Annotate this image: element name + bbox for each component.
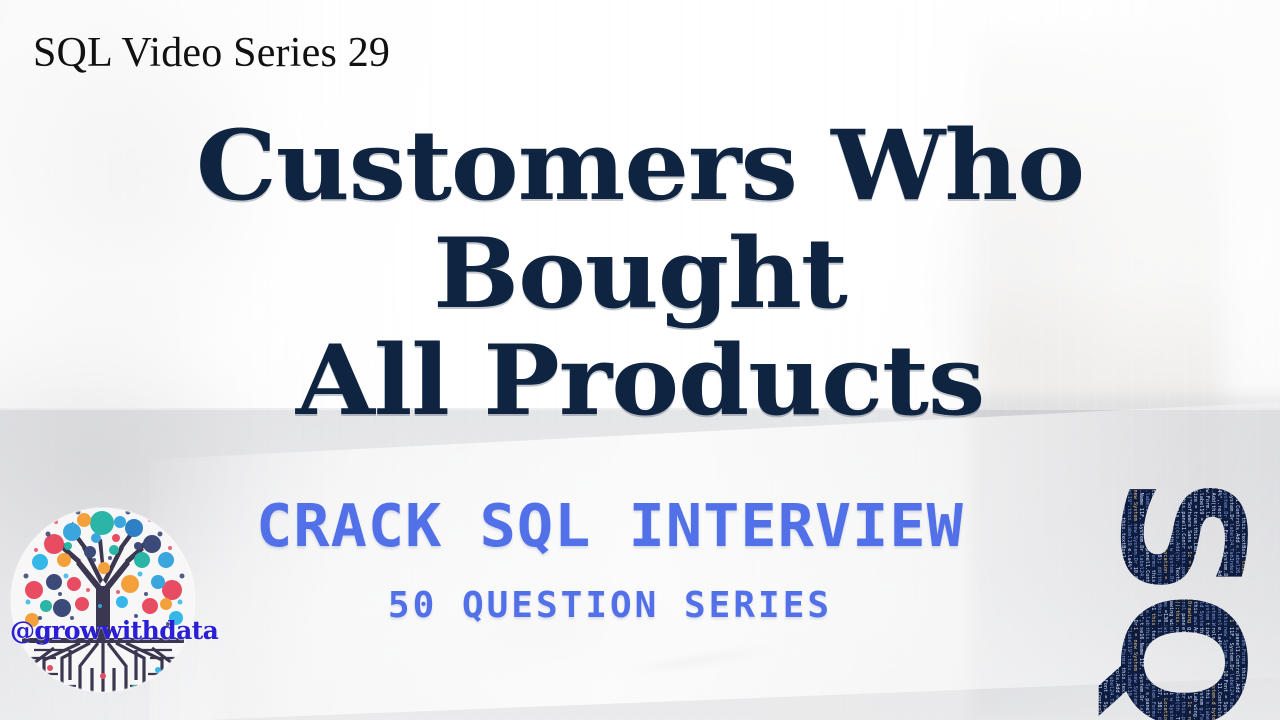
sql-wordmark-icon: System.Formsthis.textBox1this.labytabthi… (986, 470, 1280, 720)
page-title: Customers Who Bought All Products (0, 112, 1280, 435)
banner-sub-text: 50 QUESTION SERIES (205, 588, 1015, 624)
channel-logo[interactable]: @growwithdata (10, 498, 196, 703)
sql-code-mark: System.Formsthis.textBox1this.labytabthi… (986, 470, 1280, 720)
headline-line-1: Customers Who (0, 112, 1280, 220)
video-title-card: SQL Video Series 29 Customers Who Bought… (0, 0, 1280, 720)
headline-line-3: All Products (0, 327, 1280, 435)
logo-handle-text: @growwithdata (10, 616, 196, 645)
headline-line-2: Bought (0, 220, 1280, 328)
series-label: SQL Video Series 29 (33, 30, 390, 76)
sql-letters: SQL (1083, 476, 1279, 720)
banner-main-text: CRACK SQL INTERVIEW (197, 496, 1023, 555)
data-tree-logo-icon (10, 498, 196, 703)
